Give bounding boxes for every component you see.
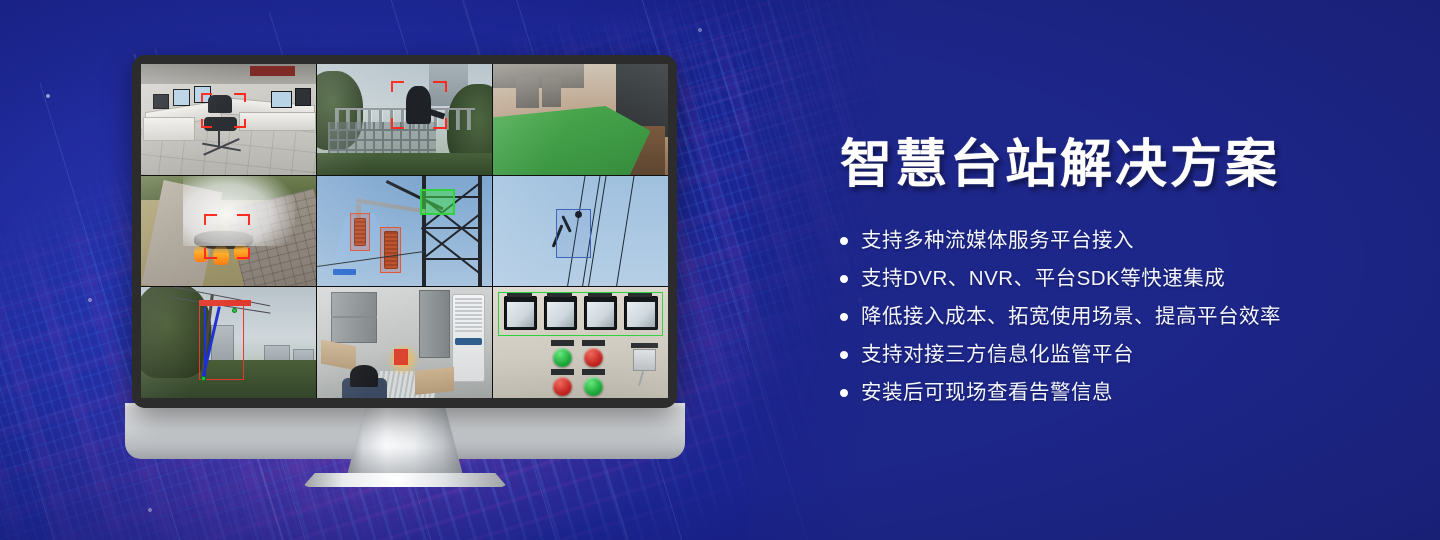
desk-right-front	[239, 112, 316, 132]
camera-cell-construction-site[interactable]	[493, 64, 668, 175]
button-label-2	[582, 340, 605, 346]
button-label-3	[551, 369, 574, 375]
camera-cell-equipment-room[interactable]	[317, 287, 492, 398]
button-label-1	[551, 340, 574, 346]
equipment-cabinet-b	[542, 78, 561, 107]
equipment-cabinet-a	[516, 77, 539, 108]
rotary-switch[interactable]	[633, 349, 656, 371]
desktop-monitor	[125, 55, 685, 490]
gauge-label-2	[547, 293, 572, 297]
camera-cell-control-panel[interactable]	[493, 287, 668, 398]
object-detection-box	[556, 209, 591, 258]
list-item: 支持对接三方信息化监管平台	[840, 336, 1400, 374]
monitor-b	[173, 89, 191, 106]
ac-vent	[455, 298, 481, 331]
solution-banner: 智慧台站解决方案 支持多种流媒体服务平台接入 支持DVR、NVR、平台SDK等快…	[0, 0, 1440, 540]
insulator-box-a	[350, 213, 369, 251]
gauge-label-4	[628, 293, 653, 297]
bullet-dot-icon	[840, 351, 848, 359]
monitor-stand-shade	[346, 407, 464, 479]
page-title: 智慧台站解决方案	[840, 136, 1400, 194]
tower-leg-b	[478, 176, 482, 287]
gauge-2	[544, 296, 577, 330]
monitor-d	[271, 91, 292, 109]
list-item-label: 支持对接三方信息化监管平台	[861, 345, 1134, 366]
server-cabinet	[419, 290, 451, 359]
copy-block: 智慧台站解决方案 支持多种流媒体服务平台接入 支持DVR、NVR、平台SDK等快…	[840, 136, 1400, 412]
switch-label	[631, 343, 657, 349]
list-item-label: 支持DVR、NVR、平台SDK等快速集成	[861, 269, 1225, 290]
shelf-divider	[331, 316, 377, 318]
detection-tag	[333, 269, 356, 275]
bullet-dot-icon	[840, 313, 848, 321]
intrusion-detection-brackets	[391, 81, 447, 130]
indicator-button-green-1[interactable]	[553, 348, 572, 367]
list-item-label: 安装后可现场查看告警信息	[861, 383, 1113, 404]
ac-display	[455, 338, 481, 345]
bullet-dot-icon	[840, 389, 848, 397]
monitor-bezel	[132, 55, 677, 408]
feature-list: 支持多种流媒体服务平台接入 支持DVR、NVR、平台SDK等快速集成 降低接入成…	[840, 222, 1400, 412]
list-item: 支持多种流媒体服务平台接入	[840, 222, 1400, 260]
monitor-a	[153, 94, 169, 109]
operator-head	[350, 365, 378, 387]
indicator-button-green-2[interactable]	[584, 377, 603, 396]
monitor-e	[295, 88, 311, 106]
foliage-bottom	[317, 153, 492, 175]
list-item-label: 支持多种流媒体服务平台接入	[861, 231, 1134, 252]
tilt-node-bottom	[201, 376, 206, 381]
tower-brace-2	[422, 227, 482, 229]
indicator-button-red-2[interactable]	[553, 377, 572, 396]
gauge-label-3	[588, 293, 613, 297]
gauge-label-1	[507, 293, 532, 297]
bullet-dot-icon	[840, 275, 848, 283]
fire-alarm-detection-box	[394, 349, 408, 364]
list-item: 安装后可现场查看告警信息	[840, 374, 1400, 412]
gauge-4	[624, 296, 657, 330]
fire-detection-brackets	[204, 214, 250, 258]
camera-cell-powerline-object[interactable]	[493, 176, 668, 287]
list-item: 支持DVR、NVR、平台SDK等快速集成	[840, 260, 1400, 298]
camera-cell-control-room[interactable]	[141, 64, 316, 175]
tower-component-mask	[420, 189, 455, 216]
bullet-dot-icon	[840, 237, 848, 245]
camera-cell-leaning-pole[interactable]	[141, 287, 316, 398]
wall-banner	[250, 66, 296, 76]
gauge-3	[584, 296, 617, 330]
video-wall-grid	[141, 64, 668, 398]
gauge-1	[504, 296, 537, 330]
camera-cell-perimeter-fence[interactable]	[317, 64, 492, 175]
camera-cell-fire-detection[interactable]	[141, 176, 316, 287]
tower-brace-3	[422, 258, 482, 260]
list-item-label: 降低接入成本、拓宽使用场景、提高平台效率	[861, 307, 1281, 328]
back-wall	[493, 64, 584, 88]
camera-cell-transmission-tower[interactable]	[317, 176, 492, 287]
monitor-stand-base	[303, 473, 508, 487]
person-detection-brackets	[201, 93, 247, 128]
list-item: 降低接入成本、拓宽使用场景、提高平台效率	[840, 298, 1400, 336]
desk-left-front	[143, 117, 196, 141]
insulator-box-b	[380, 227, 401, 273]
button-label-4	[582, 369, 605, 375]
